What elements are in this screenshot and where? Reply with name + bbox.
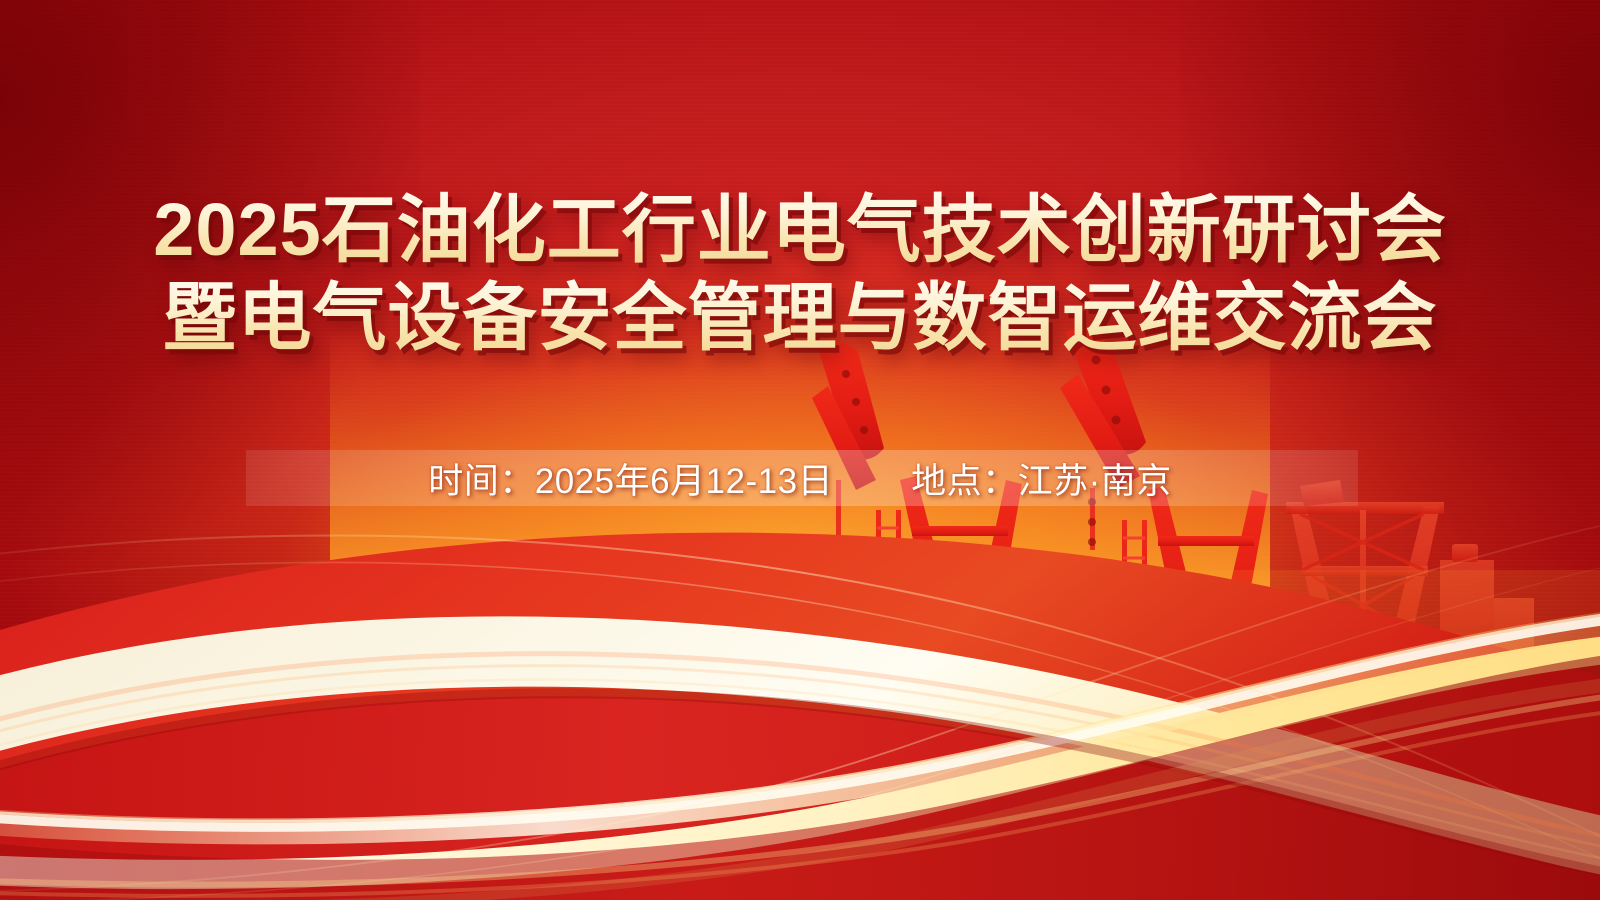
conference-banner: 2025石油化工行业电气技术创新研讨会 暨电气设备安全管理与数智运维交流会 时间… <box>0 0 1600 900</box>
info-bar: 时间：2025年6月12-13日 地点：江苏·南京 <box>0 450 1600 506</box>
title-block: 2025石油化工行业电气技术创新研讨会 暨电气设备安全管理与数智运维交流会 <box>0 186 1600 362</box>
event-location: 地点：江苏·南京 <box>911 453 1172 504</box>
ribbon-waves <box>0 480 1600 900</box>
title-line-2: 暨电气设备安全管理与数智运维交流会 <box>0 274 1600 362</box>
event-date: 时间：2025年6月12-13日 <box>428 453 833 504</box>
title-line-1: 2025石油化工行业电气技术创新研讨会 <box>0 186 1600 274</box>
